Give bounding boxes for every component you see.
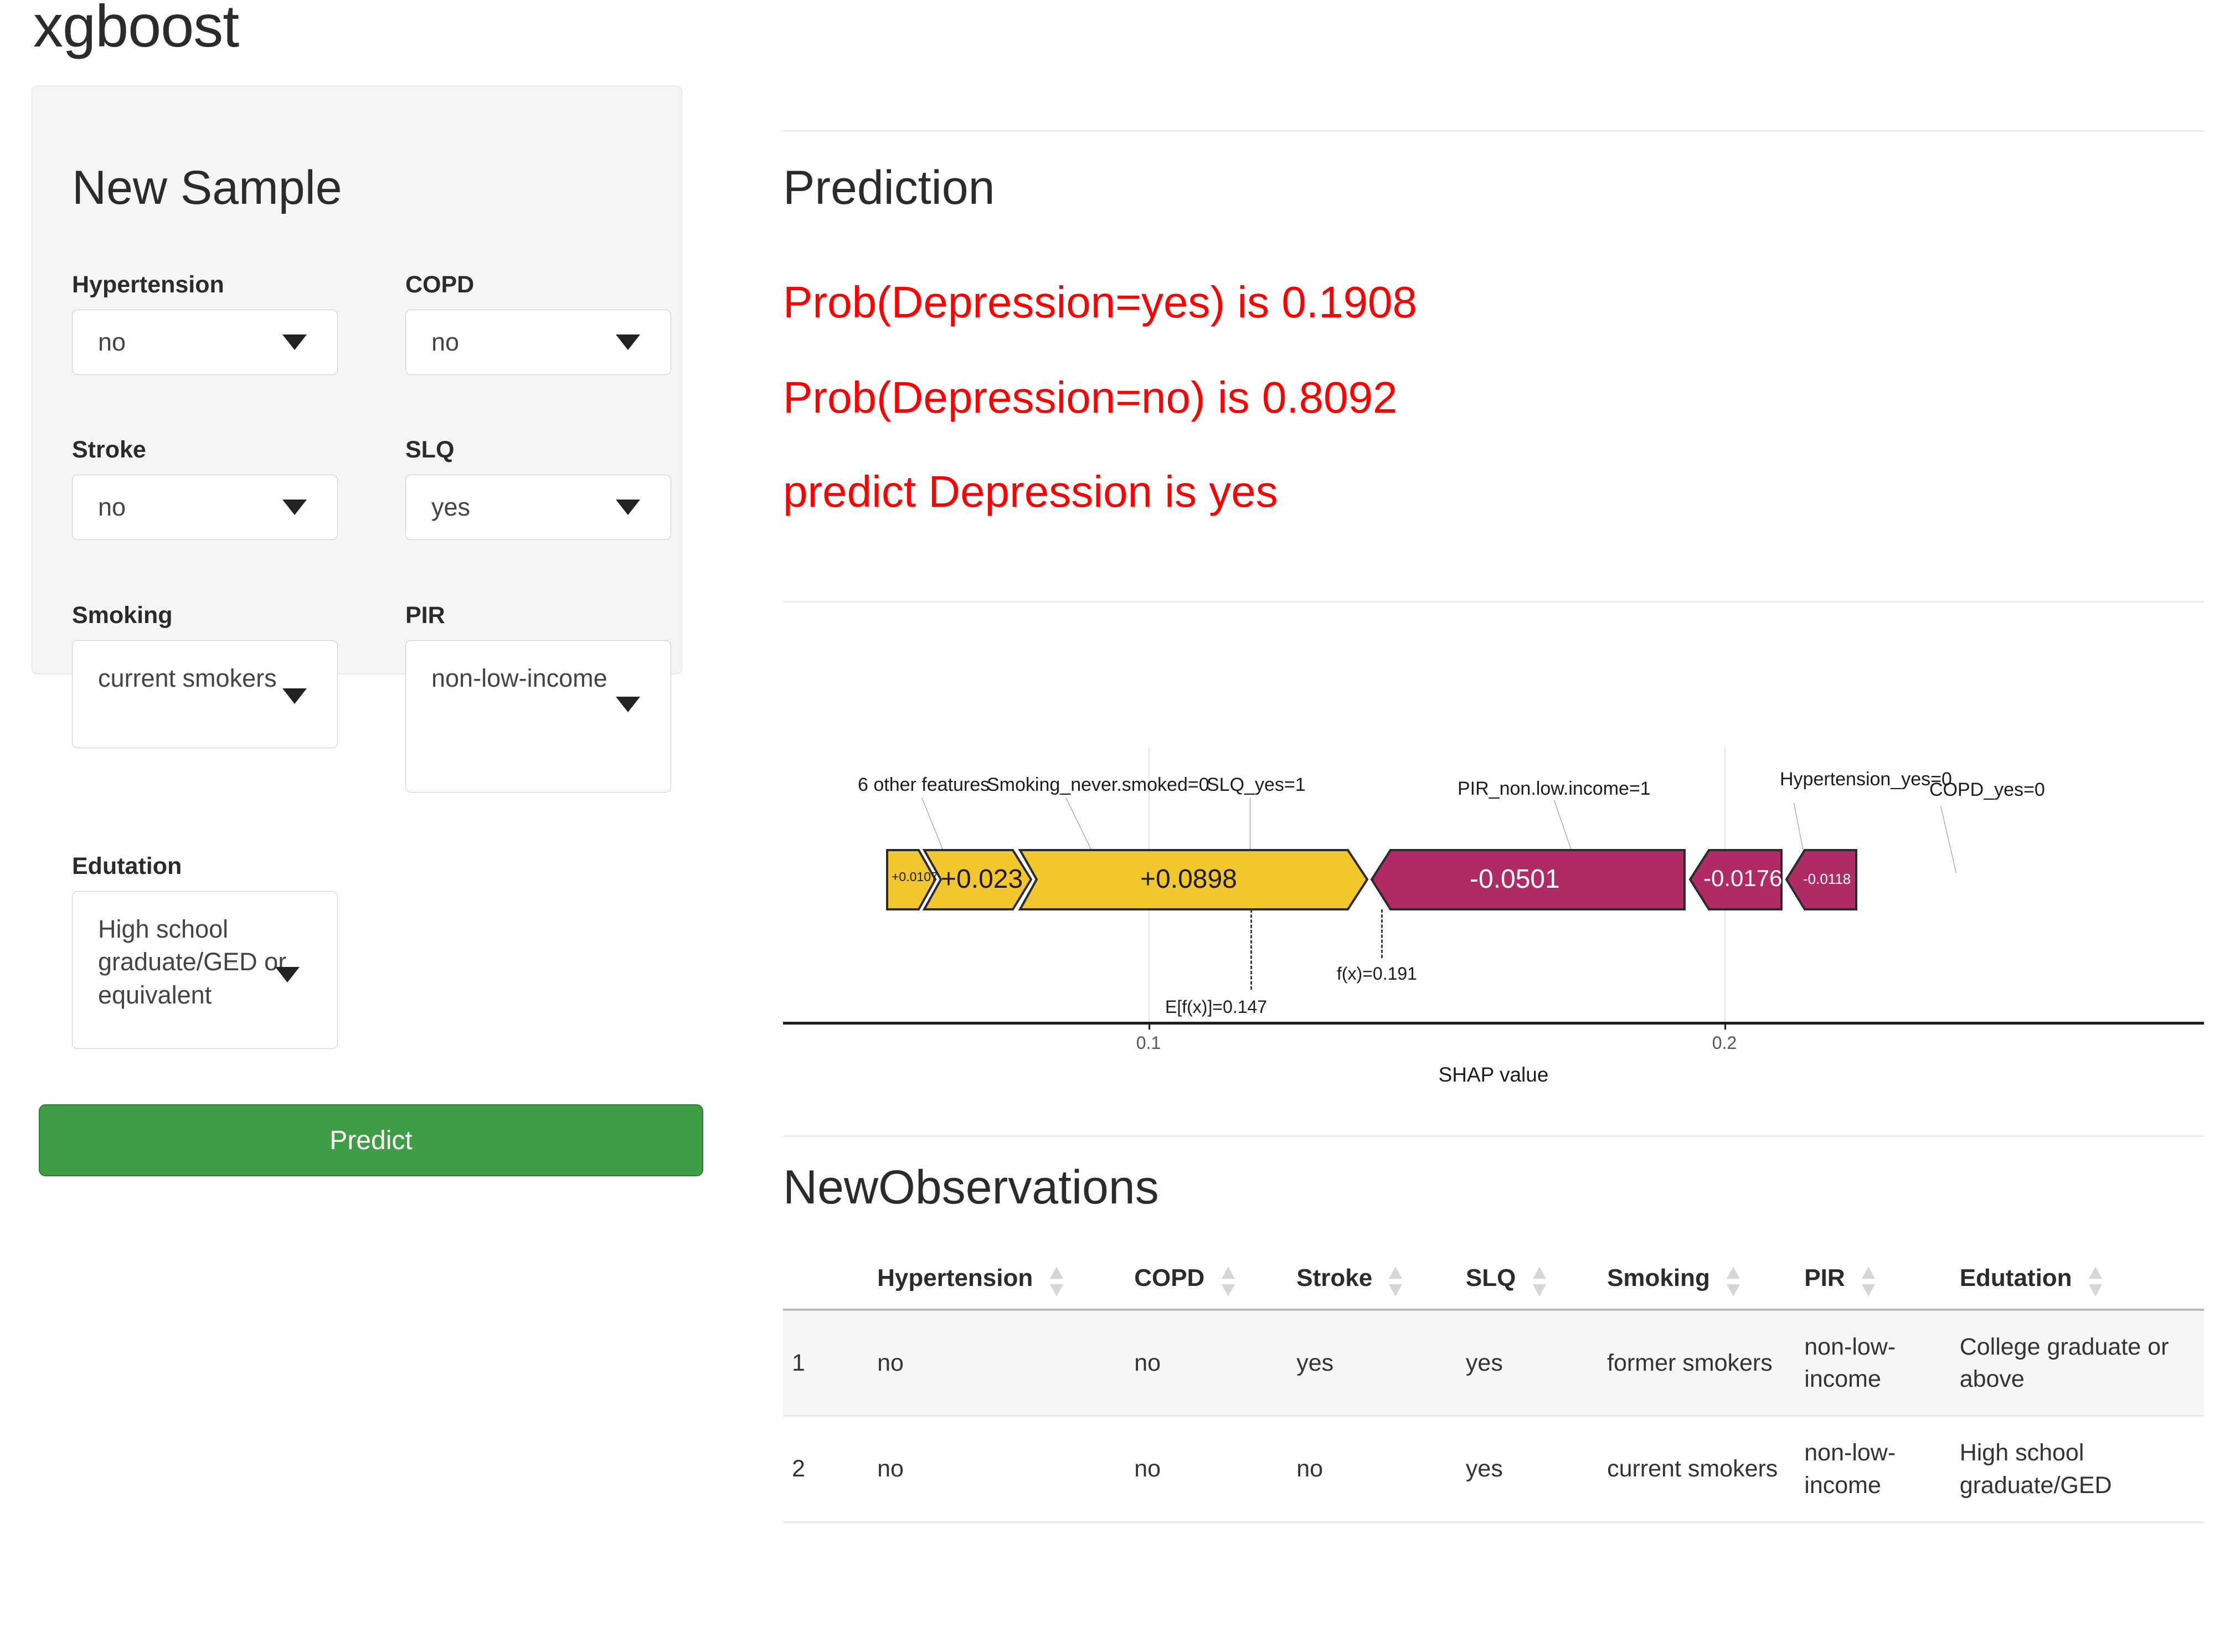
prediction-heading: Prediction bbox=[783, 161, 995, 215]
select-copd-value: no bbox=[431, 326, 459, 358]
cell-edutation: High school graduate/GED bbox=[1951, 1416, 2204, 1522]
cell-smoking: current smokers bbox=[1598, 1416, 1795, 1522]
cell-edutation: College graduate or above bbox=[1951, 1310, 2204, 1416]
select-smoking[interactable]: current smokers bbox=[72, 640, 338, 748]
table-header-label-slq: SLQ bbox=[1466, 1264, 1516, 1291]
table-header-pir[interactable]: PIR bbox=[1795, 1254, 1950, 1310]
cell-pir: non-low-income bbox=[1795, 1416, 1950, 1522]
output-value-label: f(x)=0.191 bbox=[1337, 964, 1417, 984]
sort-icon[interactable] bbox=[1389, 1267, 1402, 1296]
cell-smoking: former smokers bbox=[1598, 1310, 1795, 1416]
shap-value-label-1: +0.023 bbox=[941, 864, 1023, 894]
divider-top bbox=[783, 130, 2204, 132]
field-copd: COPD no bbox=[405, 271, 671, 375]
select-pir[interactable]: non-low-income bbox=[405, 640, 671, 792]
cell-slq: yes bbox=[1457, 1416, 1598, 1522]
cell-stroke: no bbox=[1288, 1416, 1457, 1522]
select-stroke[interactable]: no bbox=[72, 475, 338, 540]
x-tick-label-0.2: 0.2 bbox=[1712, 1033, 1737, 1053]
sort-icon[interactable] bbox=[2089, 1267, 2102, 1296]
x-tick-0.1 bbox=[1149, 1022, 1150, 1030]
table-header-smoking[interactable]: Smoking bbox=[1598, 1254, 1795, 1310]
shap-value-label-4: -0.0176 bbox=[1703, 865, 1782, 892]
field-label-stroke: Stroke bbox=[72, 436, 338, 464]
sort-icon[interactable] bbox=[1533, 1267, 1546, 1296]
field-label-copd: COPD bbox=[405, 271, 671, 299]
cell-copd: no bbox=[1125, 1416, 1288, 1522]
cell-pir: non-low-income bbox=[1795, 1310, 1950, 1416]
select-stroke-value: no bbox=[98, 491, 126, 523]
table-header-label-smoking: Smoking bbox=[1607, 1264, 1710, 1291]
cell-hypertension: no bbox=[868, 1416, 1125, 1522]
x-tick-0.2 bbox=[1724, 1022, 1726, 1030]
table-header-label-pir: PIR bbox=[1804, 1264, 1845, 1291]
x-tick-label-0.1: 0.1 bbox=[1136, 1033, 1161, 1053]
select-edutation[interactable]: High school graduate/GED or equivalent bbox=[72, 891, 338, 1049]
field-label-edutation: Edutation bbox=[72, 853, 338, 880]
output-value-marker bbox=[1381, 909, 1383, 958]
table-row[interactable]: 1 no no yes yes former smokers non-low-i… bbox=[783, 1310, 2204, 1416]
shap-value-label-2: +0.0898 bbox=[1140, 864, 1237, 894]
table-header-index bbox=[783, 1254, 868, 1310]
field-hypertension: Hypertension no bbox=[72, 271, 338, 375]
shap-force-plot: 6 other features Smoking_never.smoked=0 … bbox=[783, 615, 2204, 1124]
table-header-edutation[interactable]: Edutation bbox=[1951, 1254, 2204, 1310]
cell-stroke: yes bbox=[1288, 1310, 1457, 1416]
sort-icon[interactable] bbox=[1050, 1267, 1063, 1296]
cell-hypertension: no bbox=[868, 1310, 1125, 1416]
table-header-label-hypertension: Hypertension bbox=[877, 1264, 1033, 1291]
table-header-hypertension[interactable]: Hypertension bbox=[868, 1254, 1125, 1310]
chevron-down-icon bbox=[282, 500, 307, 515]
panel-title: New Sample bbox=[72, 161, 342, 215]
divider-bottom bbox=[783, 1135, 2204, 1137]
chevron-down-icon bbox=[616, 334, 640, 350]
shap-value-label-0: +0.0107 bbox=[892, 869, 938, 884]
table-header-label-copd: COPD bbox=[1134, 1264, 1204, 1291]
select-edutation-value: High school graduate/GED or equivalent bbox=[98, 913, 312, 1011]
page-title: xgboost bbox=[33, 0, 239, 62]
chevron-down-icon bbox=[282, 334, 307, 350]
shap-value-label-5: -0.0118 bbox=[1803, 871, 1851, 888]
table-header-stroke[interactable]: Stroke bbox=[1288, 1254, 1457, 1310]
cell-slq: yes bbox=[1457, 1310, 1598, 1416]
prediction-line-3: predict Depression is yes bbox=[783, 466, 1278, 517]
select-hypertension-value: no bbox=[98, 326, 126, 358]
shap-value-label-3: -0.0501 bbox=[1470, 864, 1560, 894]
x-axis-label: SHAP value bbox=[1439, 1063, 1549, 1087]
chevron-down-icon bbox=[616, 697, 640, 712]
predict-button[interactable]: Predict bbox=[39, 1104, 703, 1176]
chevron-down-icon bbox=[282, 688, 307, 704]
divider-middle bbox=[783, 601, 2204, 603]
chevron-down-icon bbox=[275, 967, 300, 982]
select-slq-value: yes bbox=[431, 491, 470, 523]
table-header-copd[interactable]: COPD bbox=[1125, 1254, 1288, 1310]
cell-copd: no bbox=[1125, 1310, 1288, 1416]
chevron-down-icon bbox=[616, 500, 640, 515]
row-index: 1 bbox=[783, 1310, 868, 1416]
prediction-line-2: Prob(Depression=no) is 0.8092 bbox=[783, 372, 1398, 423]
select-hypertension[interactable]: no bbox=[72, 310, 338, 375]
new-observations-table: Hypertension COPD Stroke SLQ Smoking PIR bbox=[783, 1254, 2204, 1523]
sort-icon[interactable] bbox=[1727, 1267, 1740, 1296]
x-axis bbox=[783, 1022, 2204, 1025]
select-pir-value: non-low-income bbox=[431, 662, 607, 694]
observations-heading: NewObservations bbox=[783, 1160, 1159, 1215]
field-stroke: Stroke no bbox=[72, 436, 338, 540]
field-label-slq: SLQ bbox=[405, 436, 671, 464]
field-label-pir: PIR bbox=[405, 602, 671, 629]
field-edutation: Edutation High school graduate/GED or eq… bbox=[72, 853, 338, 1049]
table-header-label-stroke: Stroke bbox=[1296, 1264, 1372, 1291]
sort-icon[interactable] bbox=[1222, 1267, 1235, 1296]
prediction-line-1: Prob(Depression=yes) is 0.1908 bbox=[783, 277, 1417, 328]
table-header-slq[interactable]: SLQ bbox=[1457, 1254, 1598, 1310]
select-copd[interactable]: no bbox=[405, 310, 671, 375]
select-slq[interactable]: yes bbox=[405, 475, 671, 540]
sort-icon[interactable] bbox=[1862, 1267, 1875, 1296]
table-header-label-edutation: Edutation bbox=[1960, 1264, 2072, 1291]
field-pir: PIR non-low-income bbox=[405, 602, 671, 792]
field-label-smoking: Smoking bbox=[72, 602, 338, 629]
base-value-label: E[f(x)]=0.147 bbox=[1165, 997, 1267, 1017]
field-smoking: Smoking current smokers bbox=[72, 602, 338, 748]
row-index: 2 bbox=[783, 1416, 868, 1522]
base-value-marker bbox=[1250, 909, 1252, 990]
field-label-hypertension: Hypertension bbox=[72, 271, 338, 299]
table-header-row: Hypertension COPD Stroke SLQ Smoking PIR bbox=[783, 1254, 2204, 1310]
table-row[interactable]: 2 no no no yes current smokers non-low-i… bbox=[783, 1416, 2204, 1522]
field-slq: SLQ yes bbox=[405, 436, 671, 540]
select-smoking-value: current smokers bbox=[98, 662, 277, 694]
